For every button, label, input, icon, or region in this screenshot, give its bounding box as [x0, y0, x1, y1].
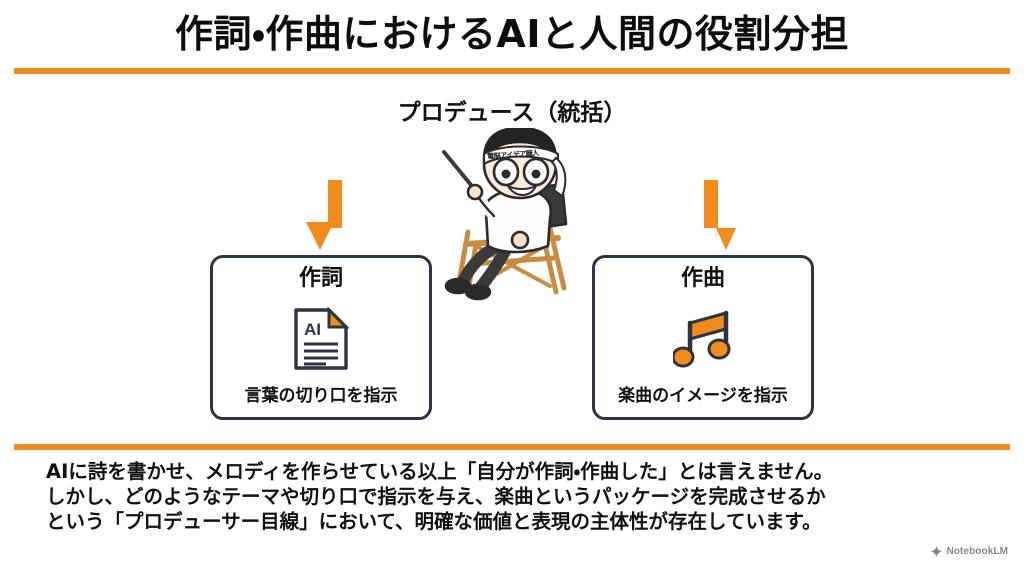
role-card-lyrics: 作詞 AI 言葉の切り口を指示 [210, 255, 432, 420]
page-title-text: 作詞・作曲におけるAIと人間の役割分担 [175, 15, 849, 53]
footer-line-2: しかし、どのようなテーマや切り口で指示を与え、楽曲というパッケージを完成させるか [46, 484, 990, 509]
ai-document-icon-svg: AI [293, 307, 349, 371]
director-figure-svg [432, 128, 608, 310]
music-notes-icon-svg [673, 307, 733, 371]
beamed-eighth-notes-icon [673, 291, 733, 387]
producer-caption: プロデュース（統括） [0, 93, 1024, 127]
ai-document-icon: AI [293, 291, 349, 387]
divider-bottom [14, 444, 1010, 450]
footer-paragraph: AIに詩を書かせ、メロディを作らせている以上「自分が作詞・作曲した」とは言えませ… [46, 459, 990, 534]
notebooklm-spark-icon [930, 545, 943, 558]
role-description-music: 楽曲のイメージを指示 [618, 387, 788, 406]
footer-line-1: AIに詩を書かせ、メロディを作らせている以上「自分が作詞・作曲した」とは言えませ… [46, 459, 990, 484]
director-illustration: 電脳アイデア職人 [432, 128, 608, 310]
notebooklm-watermark: NotebookLM [930, 545, 1008, 558]
elbow-arrow-to-music [624, 176, 748, 258]
role-card-music: 作曲 楽曲のイメージを指示 [592, 255, 814, 420]
role-title-music: 作曲 [681, 267, 725, 291]
role-description-lyrics: 言葉の切り口を指示 [245, 387, 398, 406]
role-title-lyrics: 作詞 [299, 267, 343, 291]
svg-text:AI: AI [304, 320, 321, 339]
divider-top [14, 68, 1010, 74]
page-title: 作詞・作曲におけるAIと人間の役割分担 [0, 0, 1024, 68]
slide-canvas: 作詞・作曲におけるAIと人間の役割分担 プロデュース（統括） [0, 0, 1024, 566]
footer-line-3: という「プロデューサー目線」において、明確な価値と表現の主体性が存在しています。 [46, 509, 990, 534]
notebooklm-watermark-label: NotebookLM [946, 546, 1008, 557]
elbow-arrow-to-lyrics [298, 176, 422, 258]
